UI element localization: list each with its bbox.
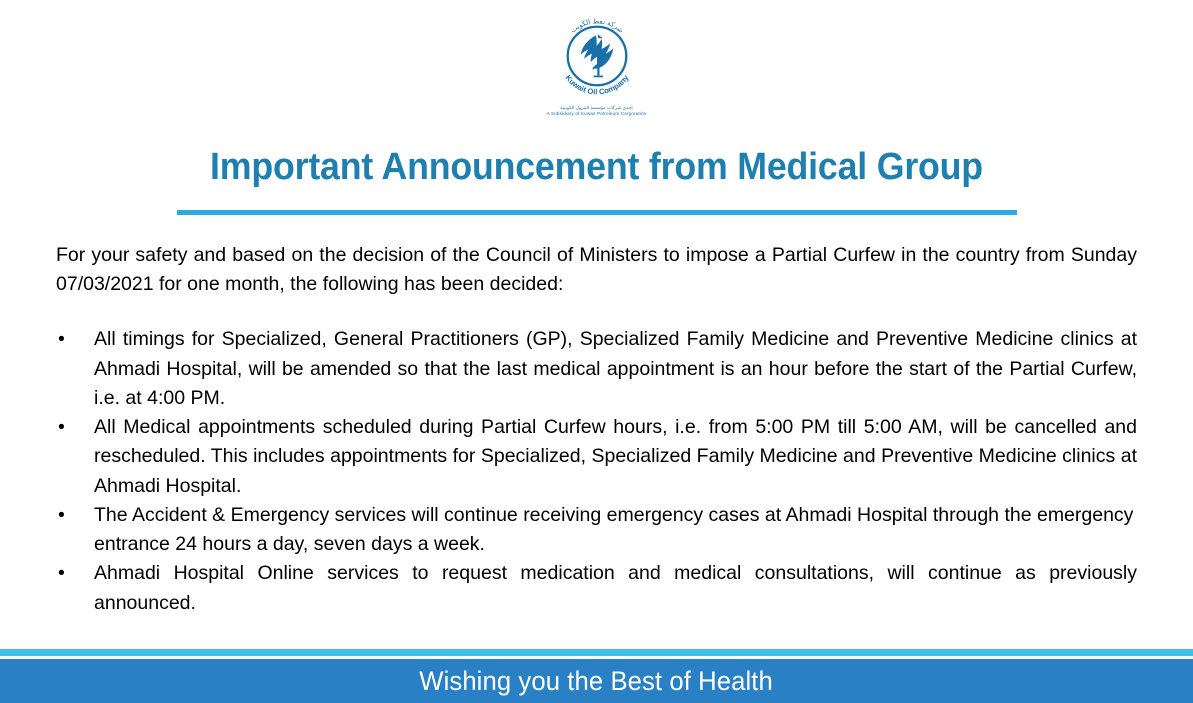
footer: Wishing you the Best of Health	[0, 649, 1193, 703]
footer-banner: Wishing you the Best of Health	[0, 659, 1193, 703]
list-item-text: All Medical appointments scheduled durin…	[94, 413, 1137, 501]
footer-message: Wishing you the Best of Health	[420, 666, 774, 697]
list-item: • All timings for Specialized, General P…	[56, 325, 1137, 413]
bullet-list: • All timings for Specialized, General P…	[56, 325, 1137, 618]
bullet-marker-icon: •	[56, 325, 94, 354]
kuwait-oil-company-logo: شركة نفط الكويت Kuwait Oil Company إحدى …	[543, 8, 651, 117]
logo-area: شركة نفط الكويت Kuwait Oil Company إحدى …	[0, 0, 1193, 140]
list-item: • Ahmadi Hospital Online services to req…	[56, 559, 1137, 618]
page-title: Important Announcement from Medical Grou…	[36, 148, 1157, 188]
list-item-text: Ahmadi Hospital Online services to reque…	[94, 559, 1137, 618]
announcement-body: For your safety and based on the decisio…	[56, 241, 1137, 618]
list-item: • All Medical appointments scheduled dur…	[56, 413, 1137, 501]
bullet-marker-icon: •	[56, 413, 94, 442]
list-item: • The Accident & Emergency services will…	[56, 501, 1137, 560]
title-block: Important Announcement from Medical Grou…	[0, 148, 1193, 215]
bullet-marker-icon: •	[56, 559, 94, 588]
list-item-text: All timings for Specialized, General Pra…	[94, 325, 1137, 413]
footer-accent-strip	[0, 649, 1193, 656]
koc-falcon-icon: شركة نفط الكويت Kuwait Oil Company	[549, 8, 645, 104]
logo-subtitle-english: A Subsidiary of Kuwait Petroleum Corpora…	[547, 111, 647, 117]
list-item-text: The Accident & Emergency services will c…	[94, 501, 1137, 560]
koc-seal-icon: شركة نفط الكويت Kuwait Oil Company	[549, 8, 645, 104]
title-underline-rule	[177, 210, 1017, 215]
intro-paragraph: For your safety and based on the decisio…	[56, 241, 1137, 300]
bullet-marker-icon: •	[56, 501, 94, 530]
